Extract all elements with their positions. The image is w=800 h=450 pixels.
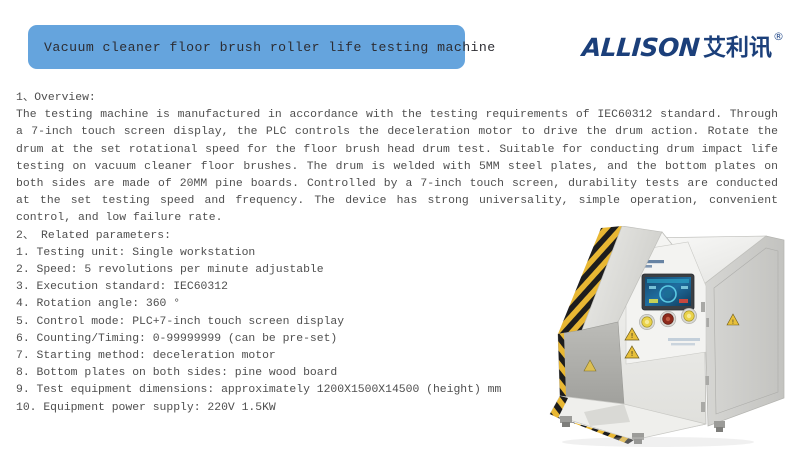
registered-trademark-icon: ® bbox=[773, 31, 784, 42]
brand-name-latin: ALLISON bbox=[581, 34, 700, 62]
control-button-emergency-stop[interactable] bbox=[660, 311, 676, 327]
testing-machine-illustration: ! bbox=[538, 226, 800, 450]
control-button-reset[interactable] bbox=[681, 308, 696, 323]
page-title: Vacuum cleaner floor brush roller life t… bbox=[44, 40, 496, 55]
product-spec-page: Vacuum cleaner floor brush roller life t… bbox=[0, 0, 800, 450]
svg-text:!: ! bbox=[732, 319, 734, 326]
brand-logo: ALLISON 艾利讯 ® bbox=[582, 34, 784, 68]
product-photo: ! bbox=[538, 226, 800, 450]
page-header: Vacuum cleaner floor brush roller life t… bbox=[0, 0, 800, 88]
overview-heading: 1、Overview: bbox=[16, 90, 778, 107]
overview-paragraph: The testing machine is manufactured in a… bbox=[16, 107, 778, 227]
page-title-banner: Vacuum cleaner floor brush roller life t… bbox=[28, 25, 465, 69]
svg-text:!: ! bbox=[631, 350, 634, 358]
brand-name-cjk: 艾利讯 bbox=[703, 34, 772, 62]
svg-text:!: ! bbox=[631, 332, 634, 340]
control-button-start[interactable] bbox=[639, 314, 654, 329]
hmi-touchscreen[interactable] bbox=[642, 274, 694, 310]
